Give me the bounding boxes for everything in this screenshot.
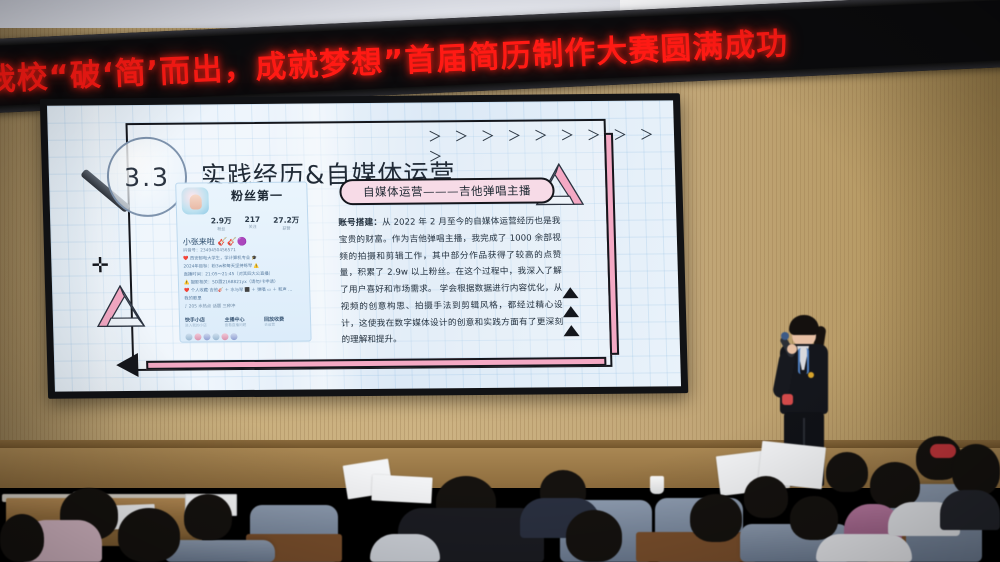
presenter-hand (787, 344, 797, 354)
audience-member (952, 444, 1000, 496)
avatar (181, 187, 209, 214)
stat-label: 粉丝 (211, 226, 232, 232)
stat-followers: 2.9万 粉丝 (211, 215, 232, 232)
presenter-lanyard (798, 348, 809, 374)
audience-member (790, 496, 838, 540)
menu-label: 快手小店 (185, 316, 207, 323)
wall-shadow-right (860, 28, 1000, 448)
triangle-up-icon (563, 306, 579, 317)
friend-avatar-icon (185, 333, 192, 340)
presenter-hair (789, 315, 819, 335)
section-number: 3.3 (124, 162, 171, 191)
stat-value: 2.9万 (211, 215, 232, 226)
stat-label: 获赞 (273, 226, 299, 232)
plus-mark-icon: ✛ (91, 253, 109, 277)
menu-sublabel: 进入我的小店 (185, 323, 207, 328)
paper-cup (650, 476, 664, 494)
auditorium-scene: 我校“破‘简’而出，成就梦想”首届简历制作大赛圆满成功 ＞ ＞ ＞ ＞ ＞ ＞ … (0, 0, 1000, 562)
friend-avatar-icon (230, 333, 237, 340)
table-papers (371, 474, 432, 503)
slide-body-text: 账号搭建：从 2022 年 2 月至今的自媒体运营经历也是我宝贵的财富。作为吉他… (338, 213, 564, 349)
stat-likes: 27.2万 获赞 (273, 215, 299, 232)
friend-avatar-icon (194, 333, 201, 340)
audience-member-shoulders (370, 534, 440, 562)
friend-avatar-icon (203, 333, 210, 340)
menu-label: 回放收费 (264, 315, 284, 322)
menu-item-replay[interactable]: 回放收费 去设置 (264, 315, 284, 327)
audience-member (0, 514, 44, 562)
audience-member (826, 452, 868, 492)
stat-value: 217 (244, 215, 260, 224)
body-lead-label: 账号搭建： (338, 218, 382, 228)
triangle-up-icon (562, 287, 578, 298)
screen-surface: ＞ ＞ ＞ ＞ ＞ ＞ ＞ ＞ ＞ ＞ 3.3 实践经历&自媒体运营 ✛ (47, 100, 681, 391)
stat-following: 217 关注 (244, 215, 260, 232)
audience-member (690, 494, 742, 542)
stat-label: 关注 (245, 224, 261, 230)
audience-member-shoulders (816, 534, 912, 562)
profile-card-title: 粉丝第一 (231, 187, 283, 204)
microphone-head-icon (781, 332, 789, 340)
profile-menu-row: 快手小店 进入我的小店 主播中心 查看直播问题 回放收费 去设置 (185, 315, 305, 328)
penrose-triangle-icon (92, 281, 149, 331)
stat-value: 27.2万 (273, 215, 299, 226)
social-profile-card: 粉丝第一 2.9万 粉丝 217 关注 27.2万 获赞 (175, 182, 311, 343)
audience-member (118, 508, 180, 562)
profile-meta-line: ♪ 205 水热点 话题 三种冲 (185, 302, 305, 311)
slide-arrow-left-icon (116, 353, 139, 377)
friend-avatar-icon (221, 333, 228, 340)
audience-member-shoulders (940, 490, 1000, 530)
menu-item-live-center[interactable]: 主播中心 查看直播问题 (224, 316, 246, 328)
profile-friend-avatars (185, 332, 305, 340)
presenter-badge (808, 372, 814, 378)
presenter-held-object (782, 394, 793, 405)
audience-member-cap (930, 444, 956, 458)
projection-screen: ＞ ＞ ＞ ＞ ＞ ＞ ＞ ＞ ＞ ＞ 3.3 实践经历&自媒体运营 ✛ (40, 93, 688, 398)
seat (165, 540, 275, 562)
triangle-up-icon (563, 325, 579, 336)
section-tag-pill: 自媒体运营———吉他弹唱主播 (339, 177, 555, 205)
username-text: 小张来啦 (183, 237, 215, 246)
menu-sublabel: 去设置 (264, 322, 284, 327)
triangle-marker-group (562, 287, 579, 336)
audience-member (184, 494, 232, 540)
profile-bio-line: ❤️ 个人收藏·吉他🎸 ＋ 水与琴 ⬛ ＋ 弹唱 ▭ ＋ 和声 … (184, 286, 304, 295)
menu-item-shop[interactable]: 快手小店 进入我的小店 (185, 316, 207, 328)
menu-sublabel: 查看直播问题 (225, 323, 247, 328)
menu-label: 主播中心 (224, 316, 246, 323)
username-emoji: 🎸🎸🟣 (217, 237, 247, 246)
audience-member (566, 510, 622, 562)
profile-stats: 2.9万 粉丝 217 关注 27.2万 获赞 (182, 215, 302, 233)
audience-member (744, 476, 788, 518)
screen-frame: ＞ ＞ ＞ ＞ ＞ ＞ ＞ ＞ ＞ ＞ 3.3 实践经历&自媒体运营 ✛ (40, 93, 688, 398)
friend-avatar-icon (212, 333, 219, 340)
